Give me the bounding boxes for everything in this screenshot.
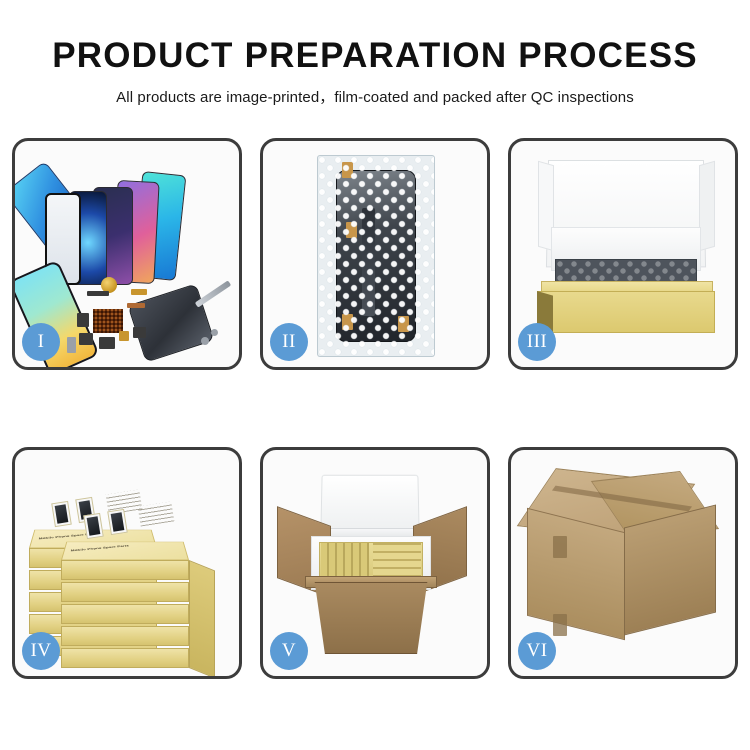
part-screw-set	[119, 331, 129, 341]
step-badge-4: IV	[22, 632, 60, 670]
product-preparation-infographic: PRODUCT PREPARATION PROCESS All products…	[0, 0, 750, 750]
carton-front-face	[527, 508, 625, 640]
stack-box-r4	[61, 626, 189, 646]
bubble-wrap-texture	[318, 156, 434, 356]
process-step-3: III	[508, 138, 738, 370]
step-badge-3: III	[518, 323, 556, 361]
logic-board-component	[93, 309, 123, 333]
part-screw-2	[211, 329, 218, 336]
step-badge-5: V	[270, 632, 308, 670]
stack-box-top-right: Mobile Phone Spare Parts	[61, 542, 189, 560]
foam-lid	[320, 475, 419, 532]
carton-side-face	[624, 505, 716, 636]
part-screw	[201, 337, 209, 345]
stack-side-face	[189, 560, 215, 676]
carton-tape-upper	[553, 536, 567, 558]
part-button-flex	[99, 337, 115, 349]
part-connector	[131, 289, 147, 295]
box-label-right: Mobile Phone Spare Parts	[71, 544, 129, 552]
part-sim-tray	[67, 337, 76, 353]
process-step-grid: I II	[12, 138, 738, 678]
part-antenna	[127, 303, 145, 308]
box-front-panel	[537, 291, 715, 333]
stack-box-r3	[61, 604, 189, 624]
step-badge-6: VI	[518, 632, 556, 670]
stack-box-r5	[61, 648, 189, 668]
box-window-right-2	[107, 509, 128, 535]
stack-box-r2	[61, 582, 189, 602]
box-window-right-1	[83, 513, 104, 539]
stack-box-r1	[61, 560, 189, 580]
part-vibrator	[79, 333, 93, 345]
page-title: PRODUCT PREPARATION PROCESS	[0, 38, 750, 75]
part-camera-module	[77, 313, 89, 327]
header: PRODUCT PREPARATION PROCESS All products…	[0, 0, 750, 107]
step-badge-2: II	[270, 323, 308, 361]
carton-body	[307, 582, 435, 654]
box-window-left-1	[51, 501, 72, 527]
process-step-1: I	[12, 138, 242, 370]
carton-tape-lower	[553, 614, 567, 636]
screwdriver-tool-icon	[195, 280, 232, 307]
process-step-5: V	[260, 447, 490, 679]
page-subtitle: All products are image-printed，film-coat…	[0, 86, 750, 107]
step-badge-1: I	[22, 323, 60, 361]
process-step-6: VI	[508, 447, 738, 679]
process-step-4: Mobile Phone Spare Parts Mobile Phone Sp…	[12, 447, 242, 679]
process-step-2: II	[260, 138, 490, 370]
box-spec-text-right	[138, 501, 175, 526]
bubble-wrap-bag	[317, 155, 435, 357]
box-lid-flap-right	[699, 161, 715, 252]
phone-chassis-open	[127, 283, 214, 362]
part-flex-cable	[87, 291, 109, 296]
part-bracket	[133, 327, 146, 338]
